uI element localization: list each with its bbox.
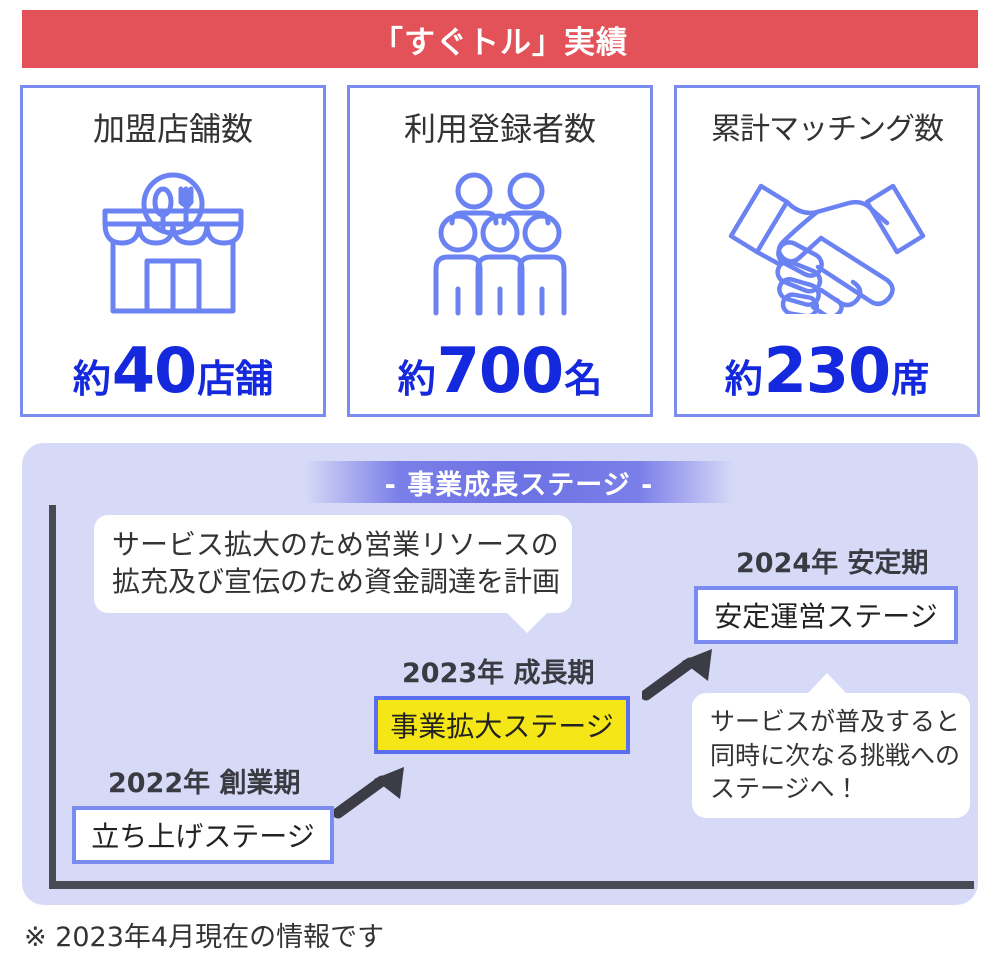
bubble-line: 拡充及び宣伝のため資金調達を計画 <box>112 564 554 601</box>
callout-bubble-next-challenge: サービスが普及すると 同時に次なる挑戦への ステージへ！ <box>692 693 970 818</box>
stat-card-group: 加盟店舗数 <box>20 85 980 417</box>
bubble-line: サービス拡大のため営業リソースの <box>112 527 554 564</box>
stage-step-2022: 2022年 創業期 立ち上げステージ <box>72 761 334 864</box>
value-prefix: 約 <box>725 360 763 398</box>
value-prefix: 約 <box>73 360 111 398</box>
stage-step-year: 2023年 成長期 <box>402 651 630 690</box>
header-banner: 「すぐトル」実績 <box>22 10 978 68</box>
stat-card-title: 累計マッチング数 <box>711 104 943 148</box>
bubble-line: 同時に次なる挑戦への <box>710 739 952 773</box>
handshake-icon <box>677 148 977 340</box>
callout-bubble-growth-plan: サービス拡大のため営業リソースの 拡充及び宣伝のため資金調達を計画 <box>94 515 572 613</box>
stage-step-box: 事業拡大ステージ <box>374 696 630 754</box>
chart-axis-horizontal <box>49 881 974 889</box>
people-group-icon <box>350 150 650 340</box>
stat-card-title: 加盟店舗数 <box>93 104 253 150</box>
stage-step-label: 事業拡大ステージ <box>390 705 613 745</box>
chart-axis-vertical <box>49 505 56 888</box>
stage-step-year: 2024年 安定期 <box>736 541 958 580</box>
stat-card-stores: 加盟店舗数 <box>20 85 326 417</box>
stage-step-box: 安定運営ステージ <box>694 586 958 644</box>
page-title: 「すぐトル」実績 <box>372 17 628 62</box>
value-number: 40 <box>111 340 197 402</box>
stage-step-2023: 2023年 成長期 事業拡大ステージ <box>374 651 630 754</box>
stage-section-title: - 事業成長ステージ - <box>385 463 654 502</box>
stage-step-label: 立ち上げステージ <box>91 815 314 855</box>
value-suffix: 店舗 <box>197 360 273 398</box>
arrow-up-right-icon <box>334 765 410 823</box>
stat-card-value: 約 230 席 <box>725 340 929 402</box>
arrow-up-right-icon <box>642 647 718 705</box>
stage-step-label: 安定運営ステージ <box>714 595 937 635</box>
growth-stage-panel: - 事業成長ステージ - サービス拡大のため営業リソースの 拡充及び宣伝のため資… <box>22 443 978 905</box>
stat-card-value: 約 700 名 <box>398 340 602 402</box>
stage-step-2024: 2024年 安定期 安定運営ステージ <box>694 541 958 644</box>
stat-card-title: 利用登録者数 <box>404 104 596 150</box>
value-number: 700 <box>436 340 564 402</box>
value-number: 230 <box>763 340 891 402</box>
stage-step-year: 2022年 創業期 <box>108 761 334 800</box>
footnote: ※ 2023年4月現在の情報です <box>24 915 384 954</box>
stat-card-users: 利用登録者数 約 700 <box>347 85 653 417</box>
bubble-tail-icon <box>808 673 846 693</box>
bubble-tail-icon <box>506 612 548 633</box>
bubble-line: サービスが普及すると <box>710 705 952 739</box>
value-suffix: 席 <box>891 360 929 398</box>
stage-section-band: - 事業成長ステージ - <box>304 461 734 503</box>
value-prefix: 約 <box>398 360 436 398</box>
stat-card-value: 約 40 店舗 <box>73 340 273 402</box>
stat-card-matches: 累計マッチング数 <box>674 85 980 417</box>
storefront-icon <box>23 150 323 340</box>
stage-step-box: 立ち上げステージ <box>72 806 334 864</box>
value-suffix: 名 <box>564 360 602 398</box>
bubble-line: ステージへ！ <box>710 772 952 806</box>
